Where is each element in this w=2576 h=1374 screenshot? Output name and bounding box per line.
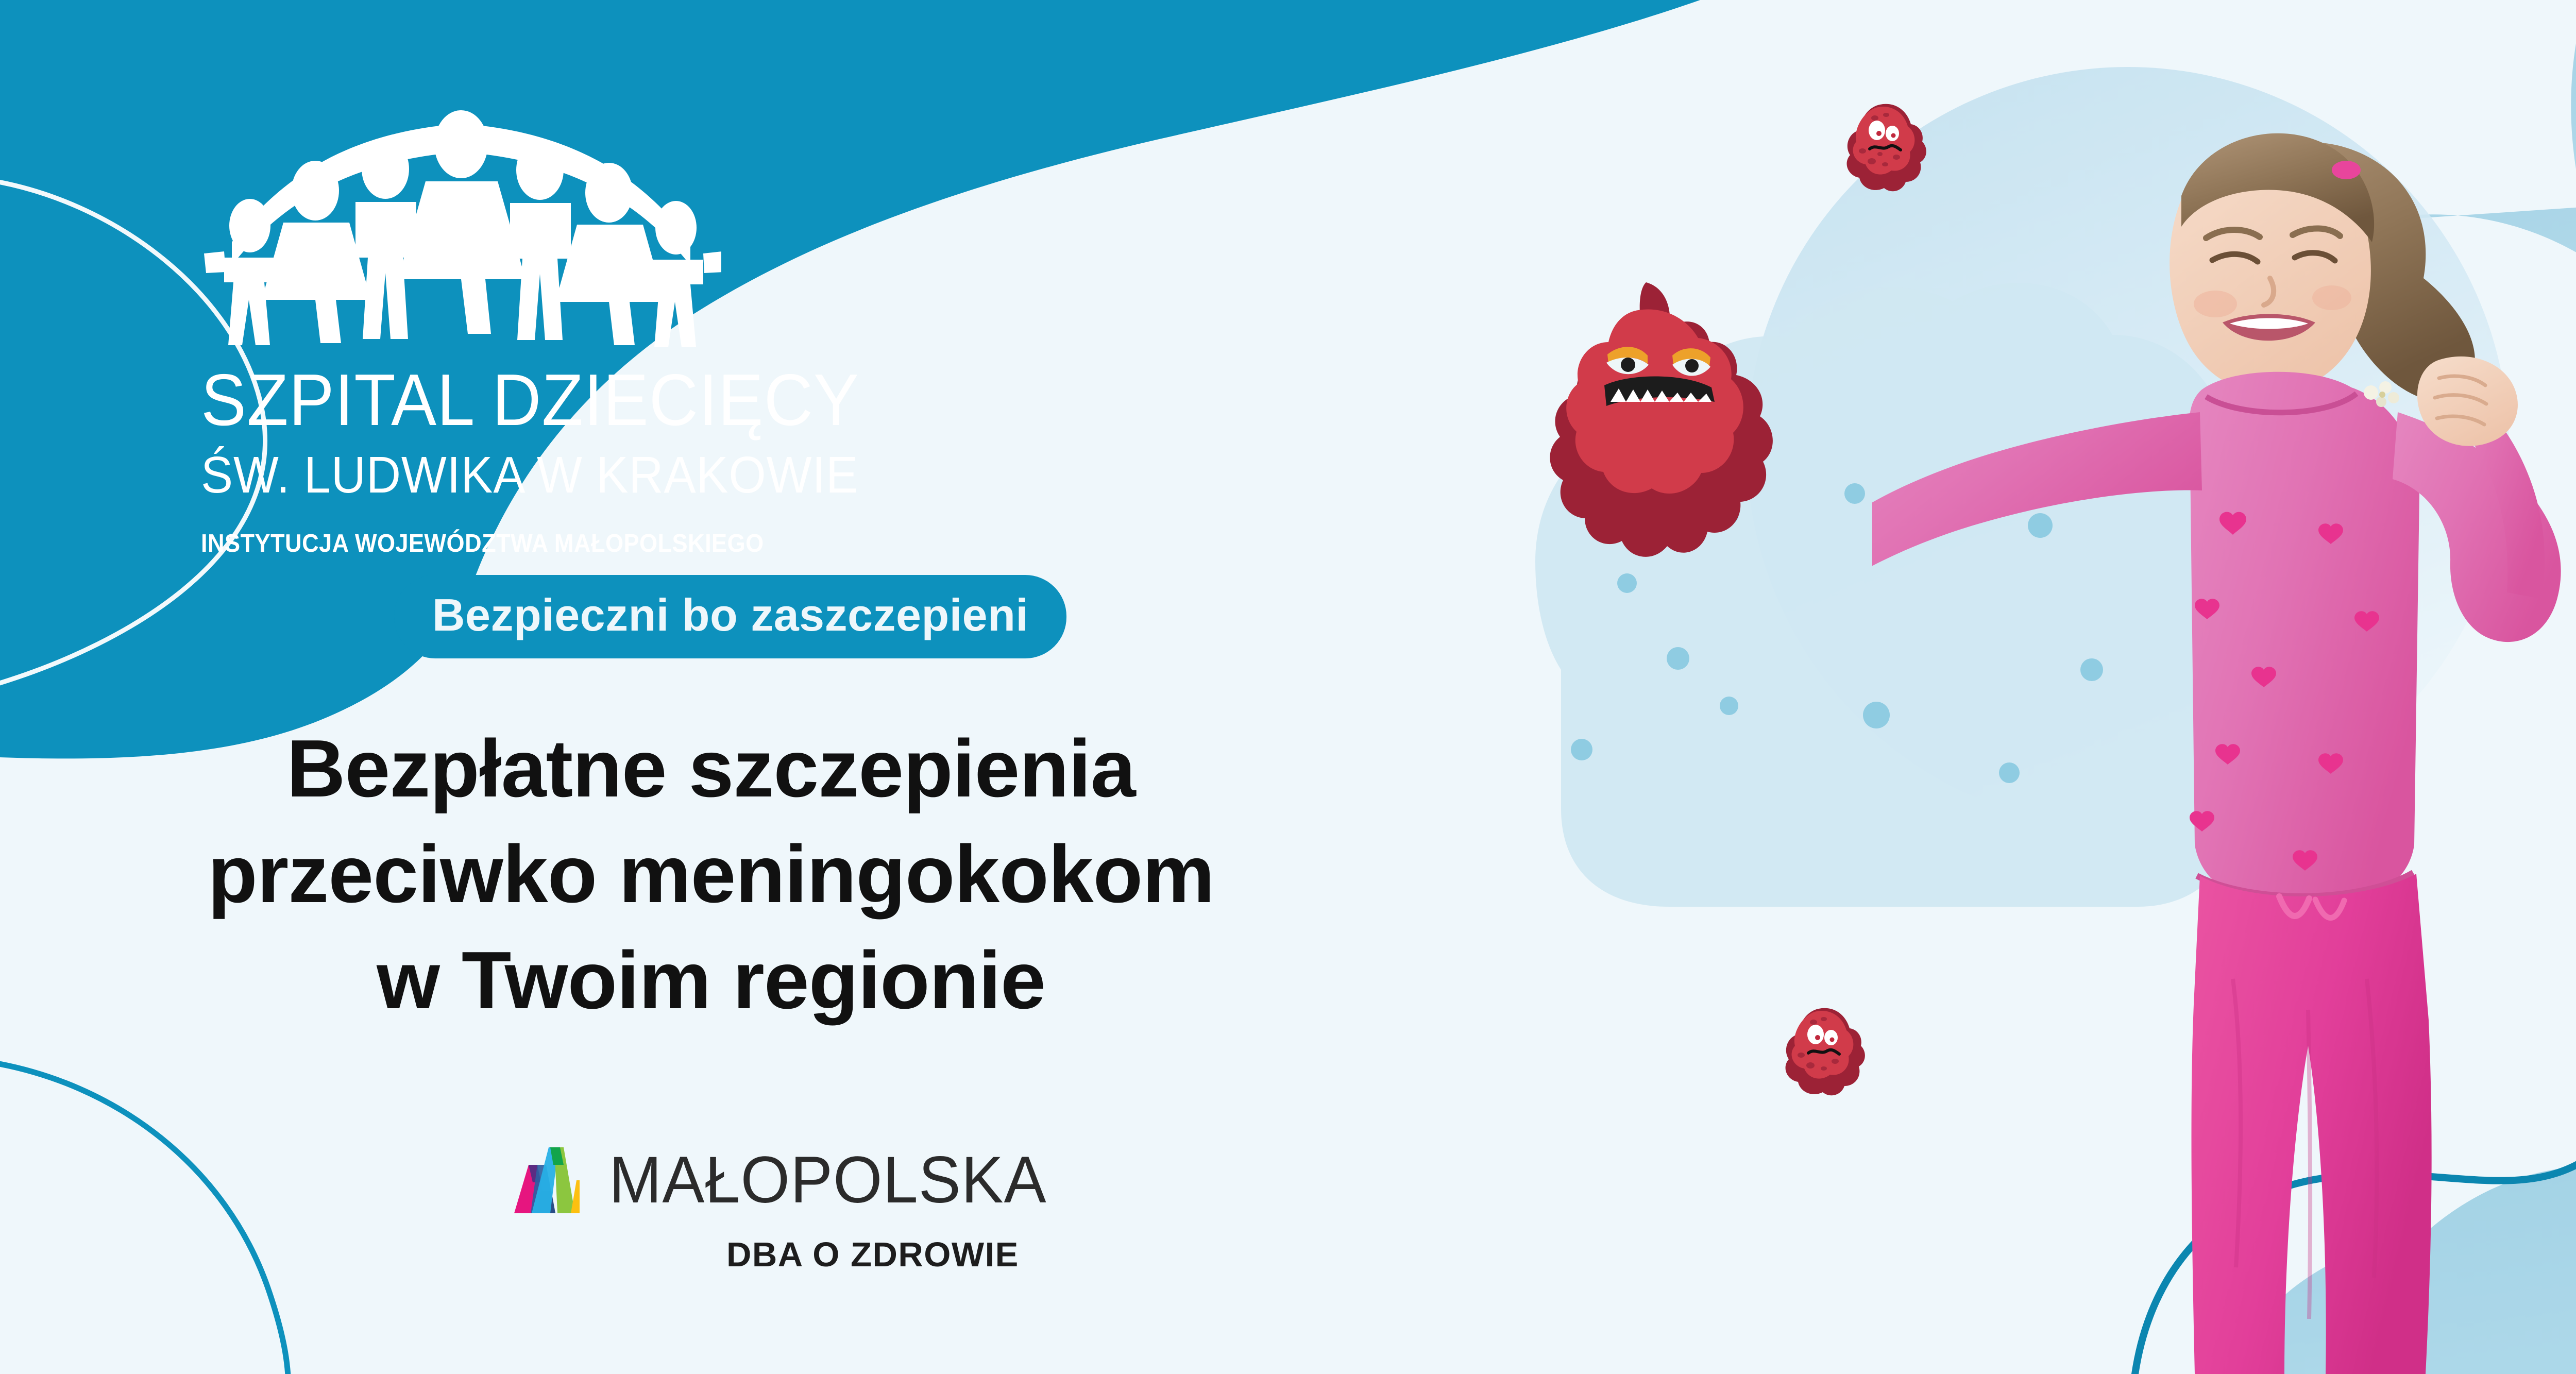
campaign-banner: SZPITAL DZIECIĘCY ŚW. LUDWIKA W KRAKOWIE… [0,0,2576,1374]
hospital-subtitle: INSTYTUCJA WOJEWÓDZTWA MAŁOPOLSKIEGO [201,529,689,558]
hospital-logo: SZPITAL DZIECIĘCY ŚW. LUDWIKA W KRAKOWIE… [201,88,732,558]
malopolska-wordmark: MAŁOPOLSKA [609,1147,1047,1213]
germ-blob-top [1847,104,1926,191]
germ-blob-bottom [1786,1008,1865,1095]
malopolska-m-mark-icon [510,1141,587,1219]
page-title: Bezpłatne szczepienia przeciwko meningok… [0,716,1422,1033]
hospital-name-line2: ŚW. LUDWIKA W KRAKOWIE [201,448,694,502]
malopolska-tagline: DBA O ZDROWIE [726,1235,1065,1275]
hospital-name-line1: SZPITAL DZIECIĘCY [201,364,694,437]
headline-line-3: w Twoim regionie [0,928,1422,1033]
headline-line-2: przeciwko meningokokom [0,822,1422,927]
malopolska-logo: MAŁOPOLSKA DBA O ZDROWIE [510,1141,1065,1275]
germ-spiky-large [1550,282,1773,557]
campaign-badge: Bezpieczni bo zaszczepieni [394,575,1066,658]
headline-line-1: Bezpłatne szczepienia [0,716,1422,822]
children-holding-hands-icon [201,88,721,361]
